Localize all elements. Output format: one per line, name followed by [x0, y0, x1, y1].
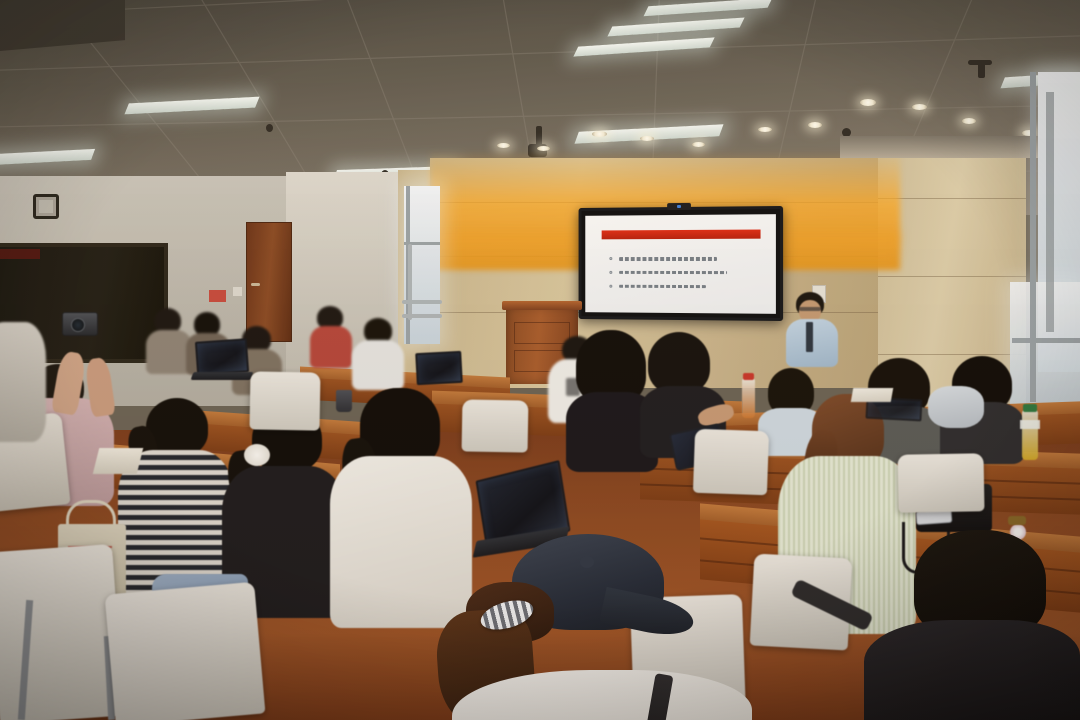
- audience-member-striped: [118, 398, 234, 598]
- audience-member-hoodie: [330, 388, 472, 624]
- chair[interactable]: [462, 399, 529, 452]
- hair: [648, 332, 710, 394]
- bottle-cap: [1023, 404, 1037, 412]
- slide-text-line: [619, 284, 706, 288]
- slide-bullet-icon: [609, 257, 612, 260]
- wood-panel-seam: [878, 354, 1026, 355]
- glasses-icon: [799, 307, 821, 311]
- webcam-icon: [667, 203, 691, 210]
- recessed-downlight: [808, 122, 822, 128]
- ceiling-sensor: [968, 60, 992, 65]
- recessed-downlight: [912, 104, 927, 110]
- blackboard-red-mark: [0, 249, 40, 259]
- recessed-downlight: [592, 131, 607, 137]
- wood-panel-seam: [878, 198, 1026, 199]
- bottle-cap: [743, 373, 754, 380]
- slide-accent-bar: [602, 229, 760, 239]
- cap-button: [580, 556, 594, 568]
- bag-charm-clip: [1008, 516, 1026, 525]
- torso-white-hoodie: [330, 456, 472, 628]
- torso-white-shirt: [352, 340, 404, 390]
- chair[interactable]: [105, 582, 266, 720]
- recessed-downlight: [497, 143, 510, 148]
- wood-panel-seam: [878, 276, 1026, 277]
- audience-member: [310, 306, 352, 366]
- chair[interactable]: [0, 544, 124, 720]
- slide-text-line: [619, 257, 718, 261]
- lectern-top: [502, 301, 582, 310]
- presentation-display[interactable]: [579, 206, 784, 321]
- wall-sign-red: [209, 290, 226, 302]
- wall-clock: [33, 194, 59, 219]
- notebook: [93, 448, 143, 474]
- recessed-downlight: [692, 142, 705, 147]
- chair[interactable]: [249, 371, 320, 430]
- foreground-attendee: [452, 548, 752, 720]
- chair[interactable]: [898, 453, 985, 512]
- chair[interactable]: [693, 429, 769, 496]
- laptop-keyboard[interactable]: [191, 372, 254, 380]
- foreground-attendee: [864, 560, 1080, 720]
- webcam-led: [677, 205, 681, 208]
- ceiling-speaker: [266, 124, 273, 132]
- window-handrail-post: [408, 244, 412, 320]
- laptop-screen[interactable]: [415, 351, 463, 385]
- slide-text-line: [619, 271, 727, 275]
- wall-switch-plate[interactable]: [233, 287, 242, 296]
- recessed-downlight: [962, 118, 976, 124]
- scrunchie: [244, 444, 270, 466]
- recessed-downlight: [640, 136, 654, 141]
- door-handle[interactable]: [251, 283, 260, 286]
- bottle-label: [1020, 420, 1040, 429]
- window-frame: [1030, 72, 1036, 402]
- audience-member: [352, 318, 404, 388]
- cap-brim: [599, 587, 696, 641]
- photo-scene: [0, 0, 1080, 720]
- foreground-attendee-partial: [0, 322, 46, 442]
- presenter: [784, 292, 846, 364]
- torso: [864, 620, 1080, 720]
- window-mullion: [1046, 92, 1054, 332]
- slide-bullet-icon: [609, 271, 612, 274]
- water-bottle[interactable]: [1022, 410, 1038, 460]
- door[interactable]: [246, 222, 292, 342]
- recessed-downlight: [758, 127, 772, 132]
- slide-bullet-icon: [609, 284, 612, 287]
- clock-face: [39, 200, 53, 213]
- water-bottle[interactable]: [742, 378, 755, 418]
- torso-red-shirt: [310, 326, 352, 368]
- notebook: [851, 388, 893, 402]
- presentation-slide: [585, 214, 776, 314]
- window-frame: [1012, 338, 1080, 343]
- presenter-tie: [806, 322, 813, 352]
- camera[interactable]: [62, 312, 98, 336]
- arm: [928, 386, 984, 428]
- camera-lens-icon: [71, 318, 85, 332]
- recessed-downlight: [860, 99, 876, 106]
- laptop-screen[interactable]: [195, 338, 249, 376]
